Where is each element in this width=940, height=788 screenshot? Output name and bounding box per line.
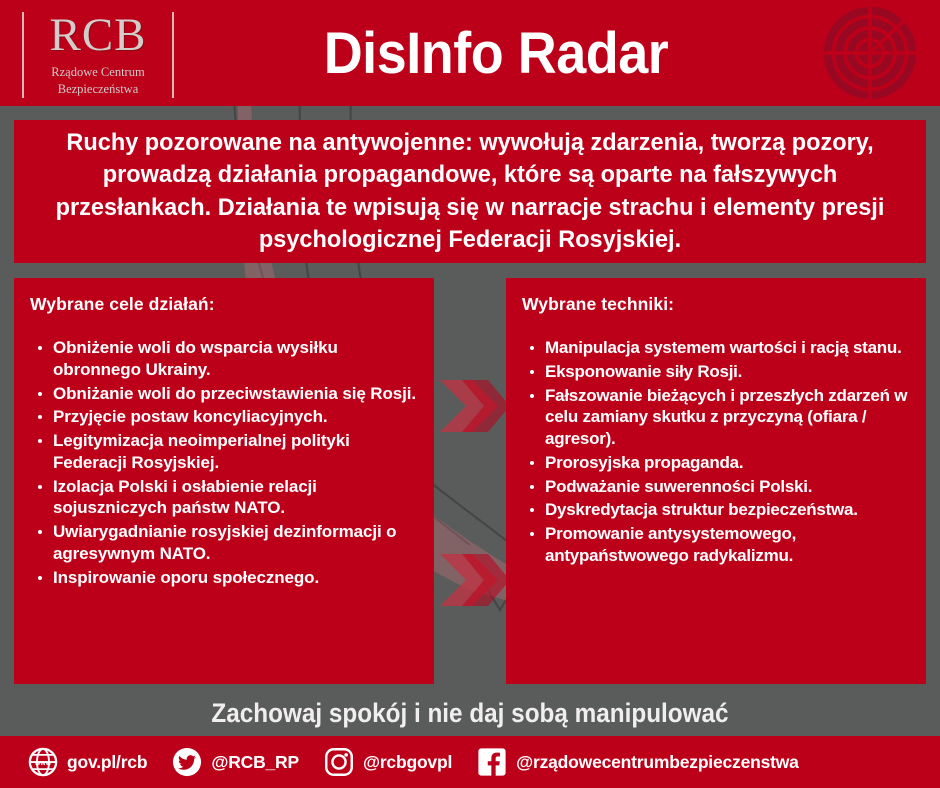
list-item: Izolacja Polski i osłabienie relacji soj… bbox=[53, 476, 418, 520]
list-item: Uwiarygadnianie rosyjskiej dezinformacji… bbox=[53, 521, 418, 565]
social-link-website[interactable]: www gov.pl/rcb bbox=[28, 747, 147, 777]
social-handle: @rcbgovpl bbox=[363, 752, 452, 773]
social-link-twitter[interactable]: @RCB_RP bbox=[172, 747, 299, 777]
social-handle: @RCB_RP bbox=[211, 752, 299, 773]
techniques-panel: Wybrane techniki: Manipulacja systemem w… bbox=[506, 278, 926, 684]
goals-list: Obniżenie woli do wsparcia wysiłku obron… bbox=[30, 337, 418, 588]
logo-subtitle-line2: Bezpieczeństwa bbox=[49, 81, 146, 97]
list-item: Manipulacja systemem wartości i racją st… bbox=[545, 337, 910, 359]
goals-panel-heading: Wybrane cele działań: bbox=[30, 294, 418, 315]
rcb-logo[interactable]: RCB Rządowe Centrum Bezpieczeństwa bbox=[22, 8, 174, 100]
techniques-panel-heading: Wybrane techniki: bbox=[522, 294, 910, 315]
logo-subtitle-line1: Rządowe Centrum bbox=[49, 64, 146, 80]
instagram-camera-icon bbox=[324, 747, 354, 777]
header-bar: RCB Rządowe Centrum Bezpieczeństwa DisIn… bbox=[0, 0, 940, 106]
logo-divider-left bbox=[22, 12, 24, 98]
list-item: Dyskredytacja struktur bezpieczeństwa. bbox=[545, 499, 910, 521]
social-link-facebook[interactable]: @rządowecentrumbezpieczenstwa bbox=[477, 747, 799, 777]
footer-bar: www gov.pl/rcb @RCB_RP @rcbgovpl bbox=[0, 736, 940, 788]
twitter-bird-icon bbox=[172, 747, 202, 777]
tagline: Zachowaj spokój i nie daj sobą manipulow… bbox=[47, 690, 893, 736]
list-item: Podważanie suwerenności Polski. bbox=[545, 476, 910, 498]
social-link-instagram[interactable]: @rcbgovpl bbox=[324, 747, 452, 777]
list-item: Przyjęcie postaw koncyliacyjnych. bbox=[53, 406, 418, 428]
list-item: Inspirowanie oporu społecznego. bbox=[53, 567, 418, 589]
radar-target-icon bbox=[822, 5, 918, 101]
svg-text:www: www bbox=[34, 760, 52, 767]
facebook-f-icon bbox=[477, 747, 507, 777]
goals-panel: Wybrane cele działań: Obniżenie woli do … bbox=[14, 278, 434, 684]
list-item: Legitymizacja neoimperialnej polityki Fe… bbox=[53, 430, 418, 474]
techniques-list: Manipulacja systemem wartości i racją st… bbox=[522, 337, 910, 567]
list-item: Fałszowanie bieżących i przeszłych zdarz… bbox=[545, 385, 910, 450]
summary-banner-text: Ruchy pozorowane na antywojenne: wywołuj… bbox=[46, 127, 895, 256]
list-item: Obniżenie woli do wsparcia wysiłku obron… bbox=[53, 337, 418, 381]
chevron-right-icon-top bbox=[438, 378, 512, 434]
logo-divider-right bbox=[172, 12, 174, 98]
summary-banner: Ruchy pozorowane na antywojenne: wywołuj… bbox=[14, 120, 926, 263]
list-item: Promowanie antysystemowego, antypaństwow… bbox=[545, 523, 910, 567]
chevron-right-icon-bottom bbox=[438, 552, 512, 608]
page-title: DisInfo Radar bbox=[217, 0, 775, 106]
disinfo-radar-infographic: RCB Rządowe Centrum Bezpieczeństwa DisIn… bbox=[0, 0, 940, 788]
list-item: Prorosyjska propaganda. bbox=[545, 452, 910, 474]
logo-acronym: RCB bbox=[49, 12, 146, 59]
list-item: Obniżanie woli do przeciwstawienia się R… bbox=[53, 383, 418, 405]
globe-www-icon: www bbox=[28, 747, 58, 777]
social-handle: @rządowecentrumbezpieczenstwa bbox=[516, 752, 799, 773]
social-handle: gov.pl/rcb bbox=[67, 752, 147, 773]
list-item: Eksponowanie siły Rosji. bbox=[545, 361, 910, 383]
